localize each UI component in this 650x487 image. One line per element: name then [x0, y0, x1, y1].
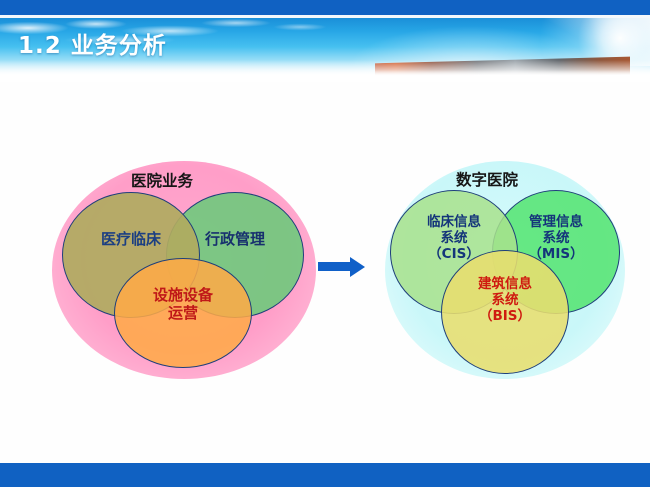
circle-label-line1: 设施设备 [153, 286, 213, 304]
circle-label-line2: 运营 [168, 304, 198, 322]
circle-facility-equipment-operations: 设施设备 运营 [114, 258, 252, 368]
circle-label-line2: 系统 [441, 230, 468, 246]
circle-label-line1: 管理信息 [529, 214, 583, 230]
slide: 1.2 业务分析 医疗临床 行政管理 设施设备 运营 医院业务 临床信息 [0, 0, 650, 487]
circle-label-line2: 系统 [543, 230, 570, 246]
right-group-title: 数字医院 [456, 168, 518, 190]
circle-label: 行政管理 [205, 231, 265, 249]
venn-diagram-area: 医疗临床 行政管理 设施设备 运营 医院业务 临床信息 系统 （CIS） [0, 78, 650, 463]
arrow-head [350, 257, 365, 277]
circle-label-line1: 临床信息 [427, 214, 481, 230]
top-accent-bar [0, 0, 650, 15]
circle-building-information-system: 建筑信息 系统 （BIS） [441, 250, 569, 374]
circle-label: 医疗临床 [101, 231, 161, 249]
circle-label-line2: 系统 [492, 292, 519, 308]
circle-label: 建筑信息 系统 （BIS） [478, 277, 532, 325]
arrow-shaft [318, 262, 352, 271]
circle-label-line3: （BIS） [479, 308, 531, 324]
page-title: 1.2 业务分析 [18, 26, 167, 60]
circle-label: 临床信息 系统 （CIS） [427, 215, 481, 263]
bottom-accent-bar [0, 463, 650, 487]
left-group-title: 医院业务 [131, 169, 193, 191]
circle-label-line1: 建筑信息 [478, 276, 532, 292]
circle-label: 管理信息 系统 （MIS） [528, 215, 583, 263]
circle-label: 设施设备 运营 [153, 287, 213, 322]
